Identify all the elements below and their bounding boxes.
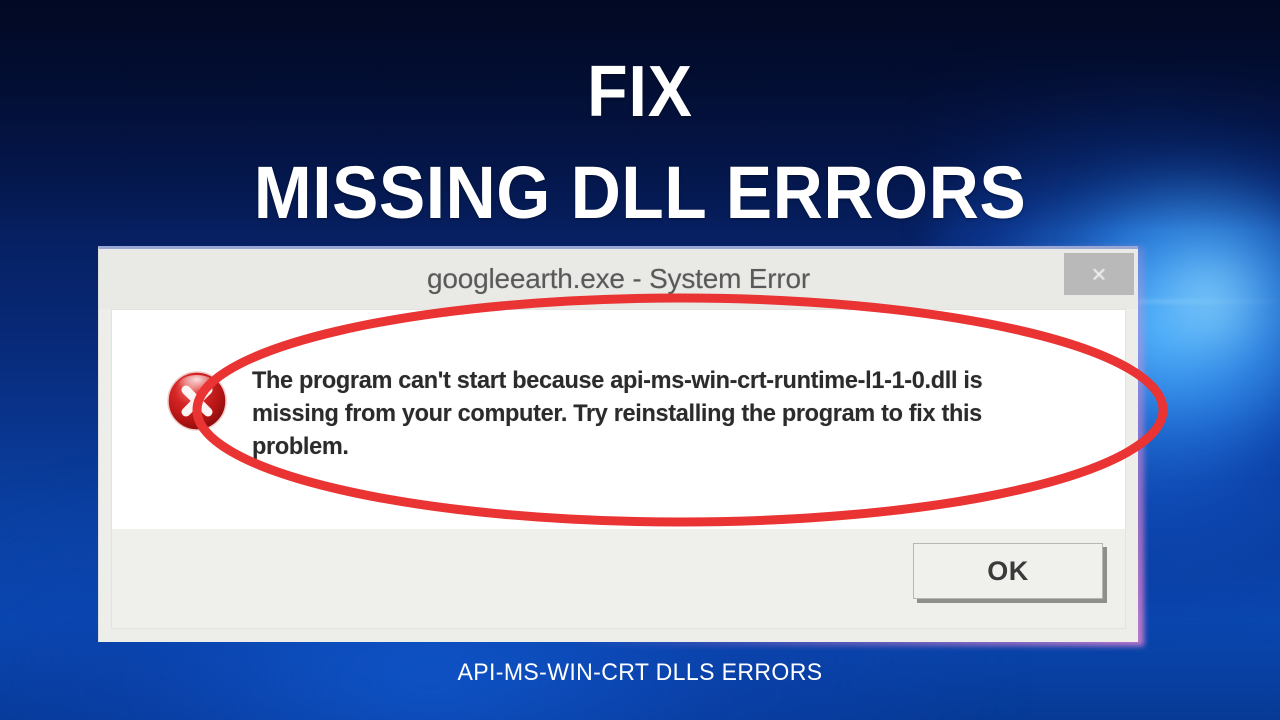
error-message: The program can't start because api-ms-w…: [252, 364, 1020, 463]
close-icon: ×: [1091, 261, 1106, 287]
background-top-vignette: [0, 0, 1280, 230]
dialog-content: The program can't start because api-ms-w…: [111, 309, 1126, 529]
ok-button[interactable]: OK: [913, 543, 1103, 599]
bottom-caption: API-MS-WIN-CRT DLLS ERRORS: [26, 659, 1255, 687]
ok-button-label: OK: [987, 556, 1029, 587]
screenshot-canvas: FIX MISSING DLL ERRORS googleearth.exe -…: [0, 0, 1280, 720]
dialog-titlebar: googleearth.exe - System Error ×: [99, 249, 1138, 309]
system-error-dialog: googleearth.exe - System Error ×: [98, 246, 1138, 642]
error-x-icon: [166, 370, 228, 432]
dialog-title: googleearth.exe - System Error: [99, 263, 1138, 295]
dialog-footer: OK: [111, 529, 1126, 629]
close-button[interactable]: ×: [1064, 253, 1134, 295]
